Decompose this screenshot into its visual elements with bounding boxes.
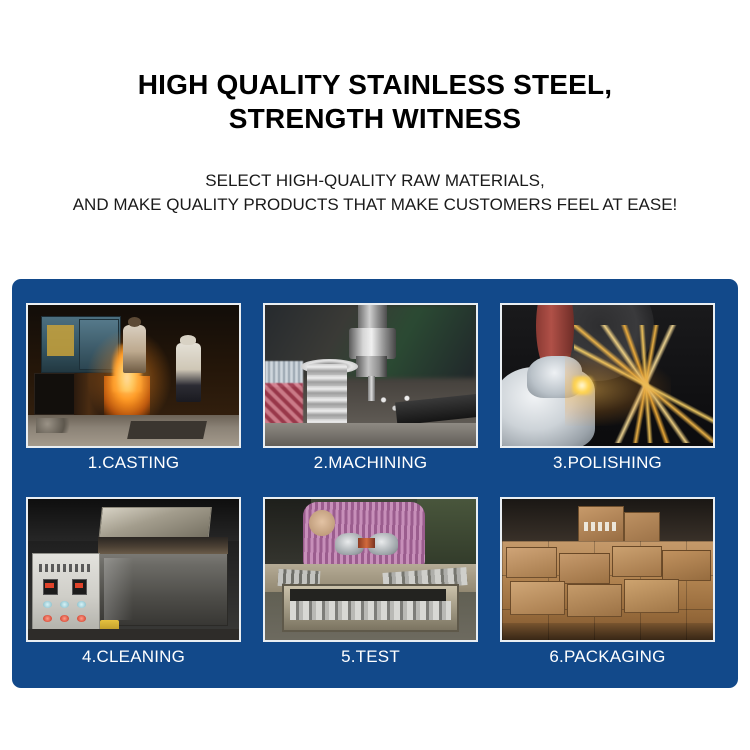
header: HIGH QUALITY STAINLESS STEEL, STRENGTH W… <box>0 0 750 217</box>
process-thumbnail <box>500 497 715 642</box>
process-step-caption: 1.CASTING <box>26 450 241 475</box>
product-process-banner: HIGH QUALITY STAINLESS STEEL, STRENGTH W… <box>0 0 750 750</box>
chuck-collar <box>356 356 388 377</box>
process-step-polishing: 3.POLISHING <box>500 303 715 475</box>
process-thumbnail <box>26 497 241 642</box>
carton <box>624 579 679 613</box>
scrap-pile <box>36 418 74 434</box>
packaging-photo <box>502 499 713 640</box>
process-step-machining: 2.MACHINING <box>263 303 478 475</box>
process-step-caption: 5.TEST <box>263 644 478 669</box>
headline-line-1: HIGH QUALITY STAINLESS STEEL, <box>0 68 750 102</box>
worker-pouring <box>123 325 146 373</box>
carton <box>612 546 663 577</box>
inspector-head <box>309 510 334 535</box>
page-subtitle: SELECT HIGH-QUALITY RAW MATERIALS, AND M… <box>0 136 750 217</box>
process-step-caption: 4.CLEANING <box>26 644 241 669</box>
process-step-test: 5.TEST <box>263 497 478 669</box>
tank-basin <box>98 537 229 554</box>
subhead-line-2: AND MAKE QUALITY PRODUCTS THAT MAKE CUST… <box>0 193 750 217</box>
page-title: HIGH QUALITY STAINLESS STEEL, STRENGTH W… <box>0 0 750 136</box>
stainless-workpiece <box>307 364 347 427</box>
grinding-contact-point <box>572 376 597 396</box>
carton <box>559 553 610 584</box>
cleaning-photo <box>28 499 239 640</box>
machining-photo <box>265 305 476 446</box>
process-step-packaging: 6.PACKAGING <box>500 497 715 669</box>
machine-bed <box>265 423 476 446</box>
cabinet-label-text <box>39 564 94 572</box>
process-panel: 1.CASTING <box>12 279 738 688</box>
process-thumbnail <box>500 303 715 448</box>
carton <box>506 547 557 578</box>
process-thumbnail <box>263 303 478 448</box>
workshop-floor <box>28 629 239 640</box>
process-step-casting: 1.CASTING <box>26 303 241 475</box>
parts-row-front <box>290 601 450 621</box>
tool-chuck <box>349 328 395 359</box>
process-step-caption: 2.MACHINING <box>263 450 478 475</box>
worker-observing <box>176 343 201 402</box>
polishing-photo <box>502 305 713 446</box>
carton-printed-logo <box>584 522 618 532</box>
temperature-meter-left <box>43 579 58 595</box>
process-step-caption: 3.POLISHING <box>500 450 715 475</box>
casting-photo <box>28 305 239 446</box>
carton <box>662 550 711 581</box>
process-thumbnail <box>26 303 241 448</box>
plaid-cloth <box>263 383 303 425</box>
carton <box>510 581 565 615</box>
floor-shadow <box>502 623 713 640</box>
temperature-meter-right <box>72 579 87 595</box>
process-thumbnail <box>263 497 478 642</box>
part-being-tested <box>358 538 375 548</box>
process-step-cleaning: 4.CLEANING <box>26 497 241 669</box>
indicator-light-3 <box>77 601 86 609</box>
casting-tray <box>127 421 207 439</box>
furnace-control-plate <box>47 325 74 356</box>
test-photo <box>265 499 476 640</box>
carton <box>567 584 622 618</box>
headline-line-2: STRENGTH WITNESS <box>0 102 750 136</box>
process-step-caption: 6.PACKAGING <box>500 644 715 669</box>
tank-reflection <box>104 558 134 620</box>
process-step-grid: 1.CASTING <box>26 303 724 669</box>
subhead-line-1: SELECT HIGH-QUALITY RAW MATERIALS, <box>0 169 750 193</box>
